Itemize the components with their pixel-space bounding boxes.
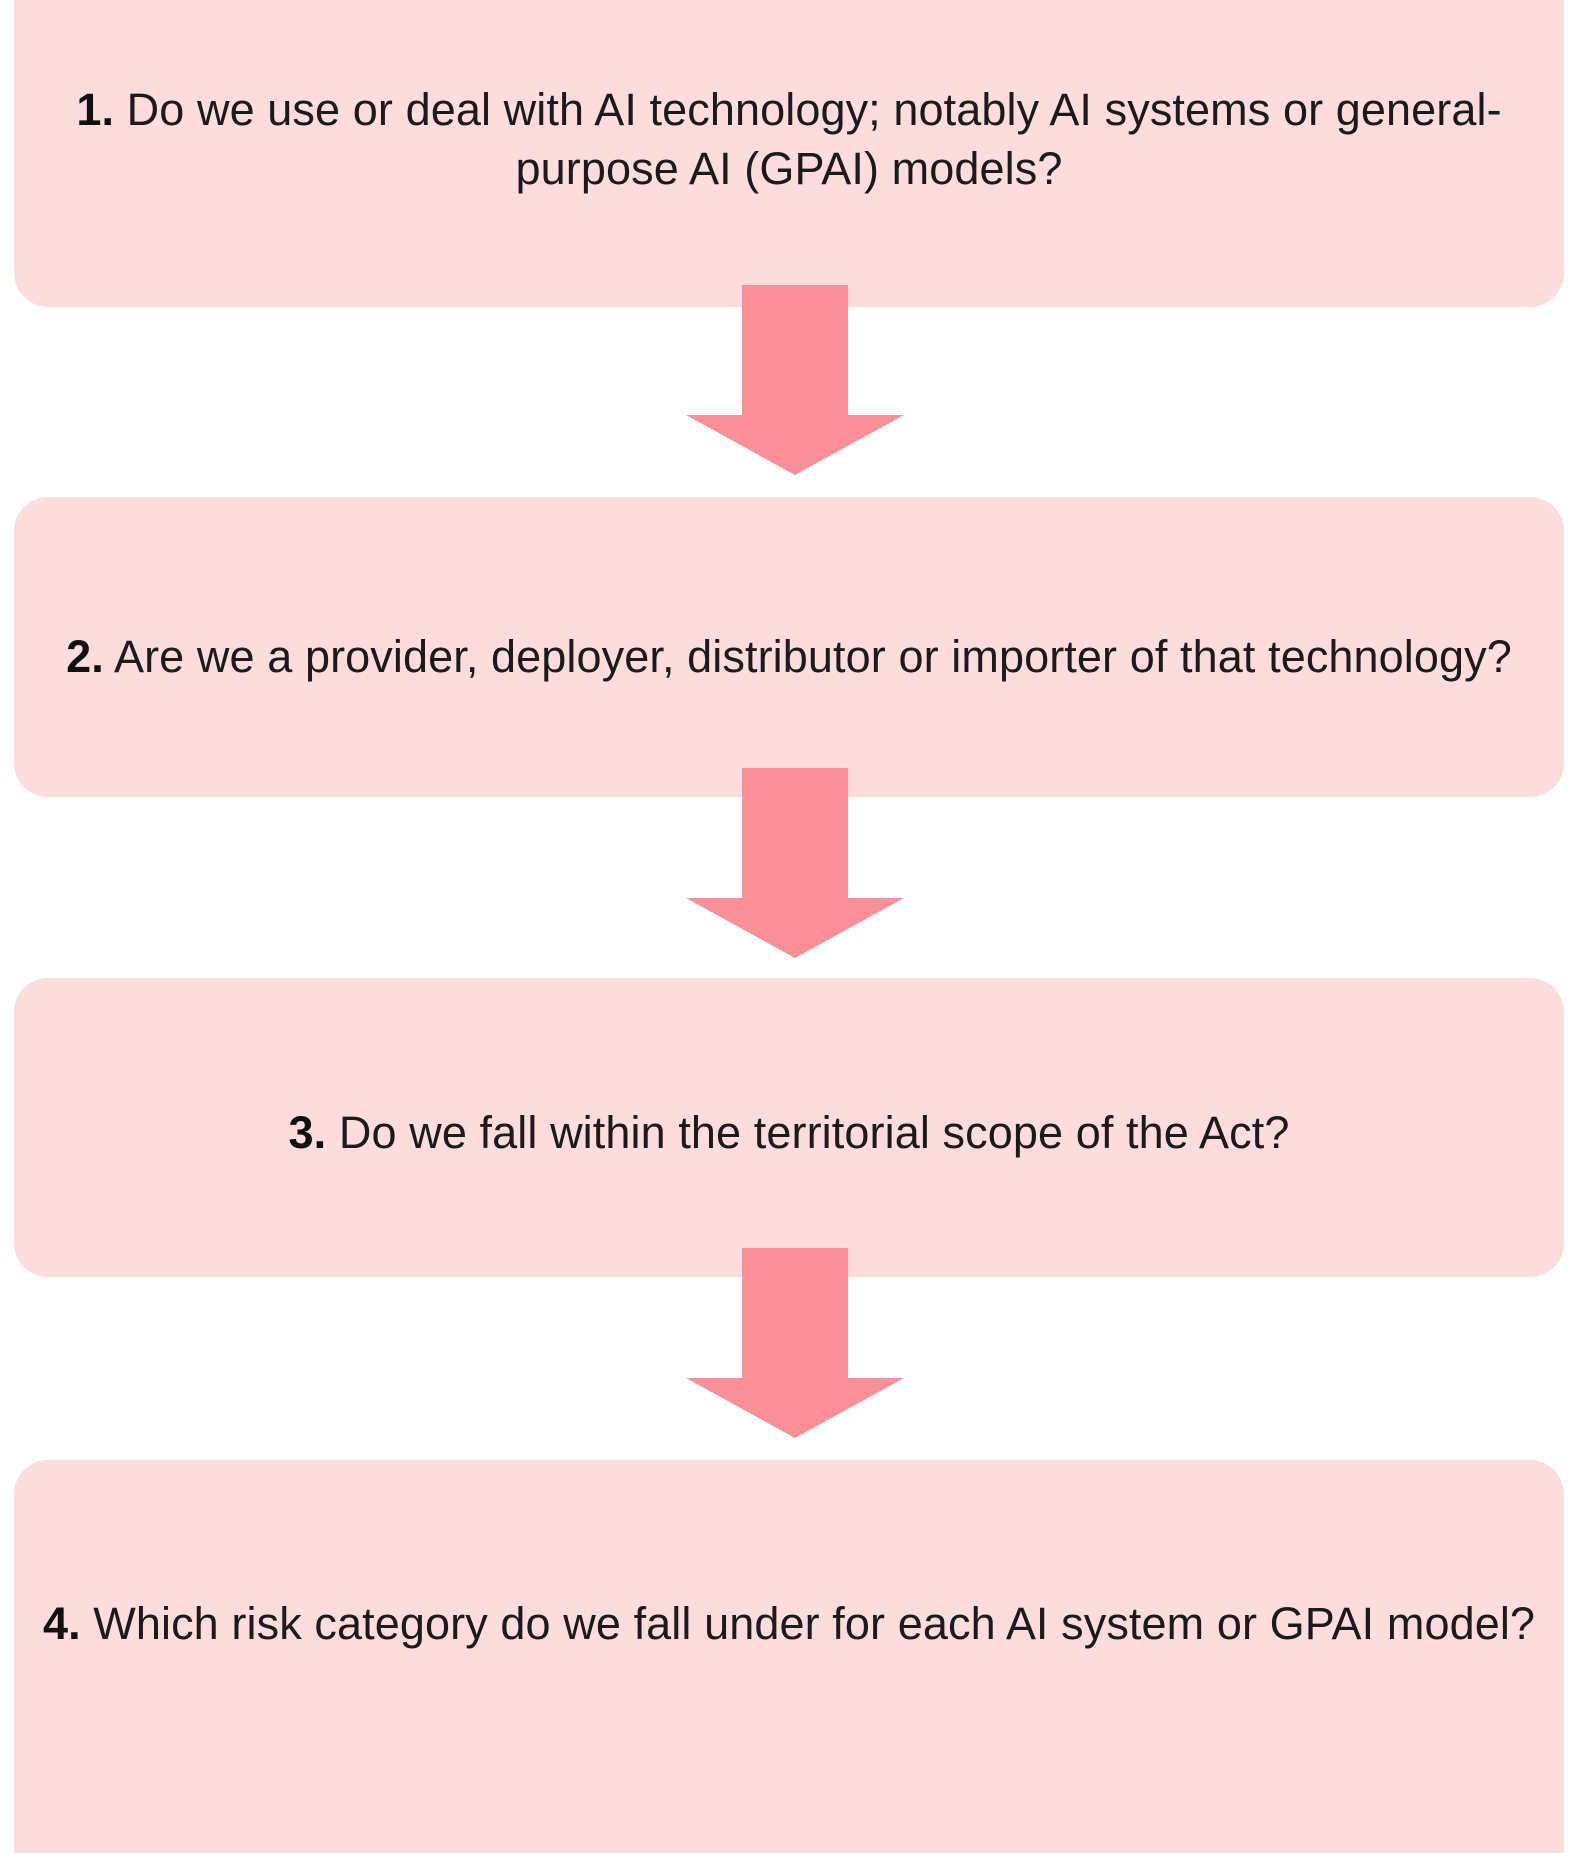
step-3-text: 3. Do we fall within the territorial sco… [289, 1104, 1290, 1163]
step-4-number: 4. [43, 1598, 81, 1649]
step-2-question: Are we a provider, deployer, distributor… [114, 631, 1512, 682]
step-3-question: Do we fall within the territorial scope … [339, 1107, 1290, 1158]
down-arrow-icon-2 [686, 768, 904, 958]
step-1-question: Do we use or deal with AI technology; no… [127, 84, 1502, 194]
step-4-question: Which risk category do we fall under for… [93, 1598, 1535, 1649]
down-arrow-icon-3 [686, 1248, 904, 1438]
step-3-number: 3. [289, 1107, 327, 1158]
flowchart-step-3[interactable]: 3. Do we fall within the territorial sco… [14, 978, 1564, 1277]
down-arrow-icon-1 [686, 285, 904, 475]
step-4-text: 4. Which risk category do we fall under … [43, 1595, 1535, 1654]
step-2-number: 2. [66, 631, 104, 682]
flowchart-step-1[interactable]: 1. Do we use or deal with AI technology;… [14, 0, 1564, 307]
step-1-number: 1. [76, 84, 114, 135]
flowchart-step-4[interactable]: 4. Which risk category do we fall under … [14, 1460, 1564, 1853]
step-2-text: 2. Are we a provider, deployer, distribu… [66, 628, 1512, 687]
flowchart-step-2[interactable]: 2. Are we a provider, deployer, distribu… [14, 497, 1564, 797]
flowchart-container: 1. Do we use or deal with AI technology;… [0, 0, 1590, 1853]
step-1-text: 1. Do we use or deal with AI technology;… [40, 81, 1538, 198]
